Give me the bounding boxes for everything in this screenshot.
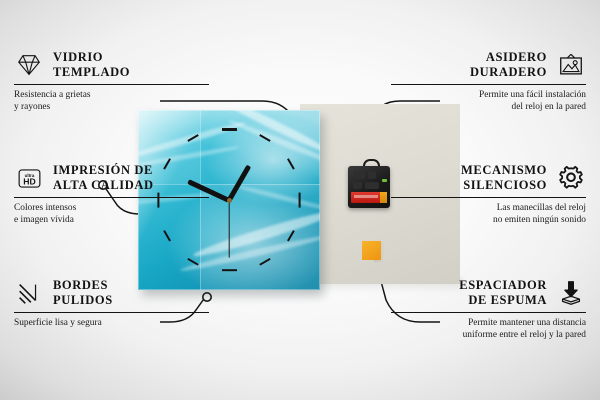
feature-title-line1: VIDRIO — [53, 50, 103, 64]
feature-bordes-pulidos: BORDESPULIDOS Superficie lisa y segura — [14, 278, 209, 329]
feature-title-line1: BORDES — [53, 278, 108, 292]
feature-desc-line1: Permite mantener una distancia — [468, 318, 586, 328]
feature-desc-line1: Superficie lisa y segura — [14, 318, 102, 328]
feature-desc-line2: no emiten ningún sonido — [493, 215, 586, 225]
diagonal-lines-icon — [14, 278, 44, 308]
divider — [14, 312, 209, 313]
mechanism-body — [348, 166, 390, 208]
diamond-icon — [14, 50, 44, 80]
feature-title-line1: ESPACIADOR — [459, 278, 547, 292]
divider — [391, 312, 586, 313]
foam-spacer — [362, 241, 381, 260]
feature-desc-line2: del reloj en la pared — [512, 102, 586, 112]
feature-vidrio-templado: VIDRIOTEMPLADO Resistencia a grietasy ra… — [14, 50, 209, 114]
divider — [14, 197, 209, 198]
feature-mecanismo-silencioso: MECANISMOSILENCIOSO Las manecillas del r… — [391, 163, 586, 227]
feature-title-line2: ALTA CALIDAD — [53, 178, 154, 192]
divider — [14, 84, 209, 85]
clock-mechanism — [348, 166, 390, 208]
feature-title-line2: DURADERO — [470, 65, 547, 79]
feature-title-line1: IMPRESIÓN DE — [53, 163, 153, 177]
feature-title-line1: ASIDERO — [486, 50, 547, 64]
feature-title-line2: SILENCIOSO — [463, 178, 547, 192]
feature-desc-line1: Resistencia a grietas — [14, 90, 91, 100]
feature-asidero-duradero: ASIDERODURADERO Permite una fácil instal… — [391, 50, 586, 114]
divider — [391, 197, 586, 198]
clock-second-hand — [228, 200, 229, 258]
feature-desc-line2: uniforme entre el reloj y la pared — [463, 330, 586, 340]
infographic-canvas: VIDRIOTEMPLADO Resistencia a grietasy ra… — [0, 0, 600, 400]
arrow-onto-pad-icon — [556, 278, 586, 308]
feature-desc-line1: Permite una fácil instalación — [479, 90, 586, 100]
gear-icon — [556, 163, 586, 193]
feature-title-line2: DE ESPUMA — [468, 293, 547, 307]
divider — [391, 84, 586, 85]
clock-center-hub — [227, 198, 232, 203]
mechanism-indicator — [382, 179, 387, 182]
feature-desc-line2: e imagen vívida — [14, 215, 74, 225]
feature-desc-line1b: Colores intensos — [14, 203, 76, 213]
feature-title-line2: PULIDOS — [53, 293, 113, 307]
aa-battery — [351, 192, 387, 203]
picture-frame-hook-icon — [556, 50, 586, 80]
feature-title-line1: MECANISMO — [461, 163, 547, 177]
feature-impresion-alta-calidad: ultra HD IMPRESIÓN DEALTA CALIDAD Superf… — [14, 163, 209, 227]
feature-title-line2: TEMPLADO — [53, 65, 130, 79]
feature-espaciador-de-espuma: ESPACIADORDE ESPUMA Permite mantener una… — [391, 278, 586, 342]
feature-desc-line2: y rayones — [14, 102, 50, 112]
feature-desc-line1: Las manecillas del reloj — [497, 203, 586, 213]
ultra-hd-icon: ultra HD — [14, 163, 44, 193]
ultra-hd-icon-large-text: HD — [23, 176, 35, 186]
